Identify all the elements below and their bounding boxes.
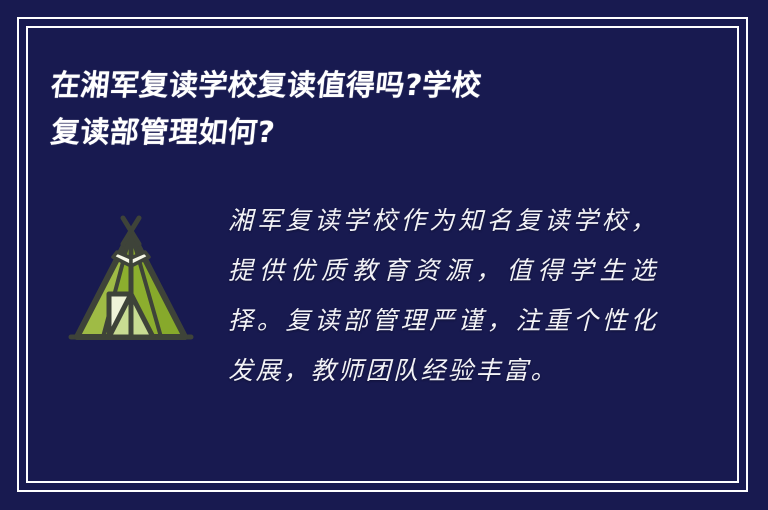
title-line-2: 复读部管理如何? xyxy=(49,109,654,156)
body-container: 湘军复读学校作为知名复读学校，提供优质教育资源，值得学生选择。复读部管理严谨，注… xyxy=(211,196,708,396)
page-title: 在湘军复读学校复读值得吗?学校 复读部管理如何? xyxy=(51,62,651,156)
illustration-container xyxy=(51,196,211,350)
poster-canvas: 在湘军复读学校复读值得吗?学校 复读部管理如何? xyxy=(0,0,768,510)
body-paragraph: 湘军复读学校作为知名复读学校，提供优质教育资源，值得学生选择。复读部管理严谨，注… xyxy=(228,196,658,396)
content-row: 湘军复读学校作为知名复读学校，提供优质教育资源，值得学生选择。复读部管理严谨，注… xyxy=(51,196,708,396)
title-line-1: 在湘军复读学校复读值得吗?学校 xyxy=(49,62,654,109)
teepee-tent-icon xyxy=(61,210,201,350)
